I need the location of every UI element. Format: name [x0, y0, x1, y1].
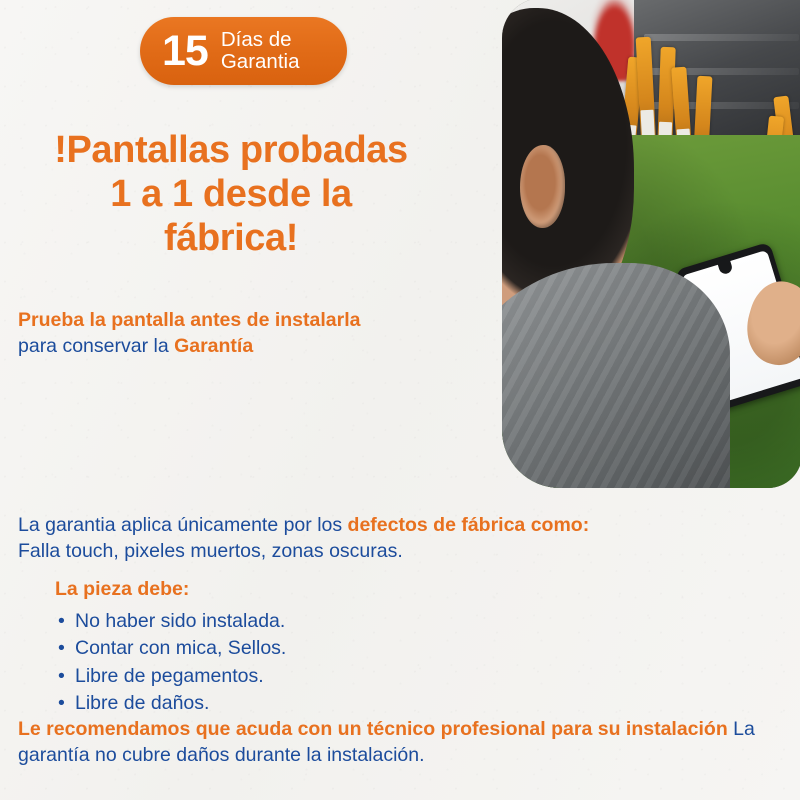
part-requirements-title: La pieza debe: — [55, 578, 189, 601]
promo-poster: 15 Días de Garantia !Pantallas probadas … — [0, 0, 800, 800]
list-item: •Contar con mica, Sellos. — [55, 635, 286, 662]
keep-warranty-highlight: Garantía — [174, 335, 253, 357]
warranty-coverage-line2: Falla touch, pixeles muertos, zonas oscu… — [18, 538, 784, 564]
photo-technician-shoulder — [502, 263, 730, 488]
list-item-label: Libre de daños. — [75, 692, 209, 714]
list-item: •Libre de pegamentos. — [55, 663, 286, 690]
warranty-days-label: Días de Garantia — [221, 29, 300, 73]
test-before-install-note: Prueba la pantalla antes de instalarla p… — [18, 308, 458, 359]
warranty-coverage-highlight: defectos de fábrica como: — [348, 514, 590, 536]
part-requirements-list: •No haber sido instalada. •Contar con mi… — [55, 608, 286, 718]
warranty-days-number: 15 — [162, 30, 208, 73]
bullet-icon: • — [58, 608, 65, 635]
photo-content — [502, 0, 800, 488]
warranty-days-badge: 15 Días de Garantia — [140, 17, 347, 85]
bullet-icon: • — [58, 690, 65, 717]
list-item: •Libre de daños. — [55, 690, 286, 717]
warranty-label-line1: Días de — [221, 28, 292, 51]
warranty-coverage-line1: La garantia aplica únicamente por los de… — [18, 512, 784, 538]
headline: !Pantallas probadas 1 a 1 desde la fábri… — [8, 128, 454, 260]
technician-photo — [502, 0, 800, 488]
bullet-icon: • — [58, 635, 65, 662]
photo-technician-ear — [520, 145, 565, 228]
list-item-label: Libre de pegamentos. — [75, 665, 264, 687]
bullet-icon: • — [58, 663, 65, 690]
list-item-label: Contar con mica, Sellos. — [75, 637, 286, 659]
list-item-label: No haber sido instalada. — [75, 610, 285, 632]
warranty-label-line2: Garantia — [221, 50, 300, 73]
headline-line-3: fábrica! — [8, 216, 454, 260]
test-before-install-line1: Prueba la pantalla antes de instalarla — [18, 308, 458, 334]
install-recommendation-highlight: Le recomendamos que acuda con un técnico… — [18, 718, 728, 740]
professional-install-recommendation: Le recomendamos que acuda con un técnico… — [18, 716, 788, 768]
keep-warranty-prefix: para conservar la — [18, 335, 174, 357]
list-item: •No haber sido instalada. — [55, 608, 286, 635]
test-before-install-line2: para conservar la Garantía — [18, 334, 458, 360]
warranty-coverage-prefix: La garantia aplica únicamente por los — [18, 514, 348, 536]
headline-line-2: 1 a 1 desde la — [8, 172, 454, 216]
headline-line-1: !Pantallas probadas — [8, 128, 454, 172]
warranty-coverage-note: La garantia aplica únicamente por los de… — [18, 512, 784, 564]
